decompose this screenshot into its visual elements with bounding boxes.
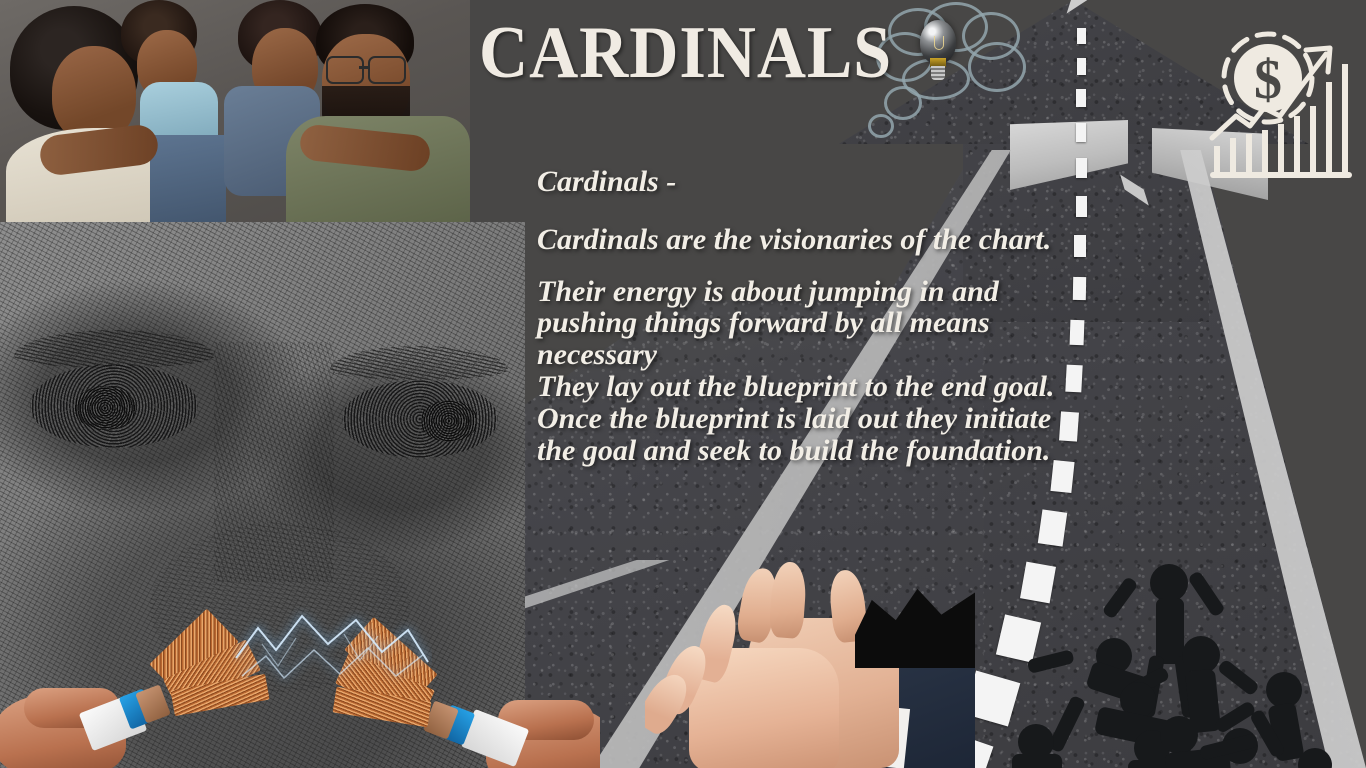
clapping-hands-photo <box>645 552 975 768</box>
body-line: They lay out the blueprint to the end go… <box>537 371 1237 403</box>
dollar-coin-growth-chart-icon: $ <box>1206 20 1356 186</box>
body-line: Their energy is about jumping in and <box>537 276 1237 308</box>
body-copy: Cardinals - Cardinals are the visionarie… <box>537 166 1237 466</box>
body-line: necessary <box>537 339 1237 371</box>
body-heading: Cardinals - <box>537 166 1237 198</box>
teamwork-silhouette-pyramid <box>1010 552 1366 768</box>
body-line: pushing things forward by all means <box>537 307 1237 339</box>
body-line: Cardinals are the visionaries of the cha… <box>537 224 1237 256</box>
svg-text:$: $ <box>1254 49 1282 111</box>
body-line: the goal and seek to build the foundatio… <box>537 435 1237 467</box>
slide-canvas: $ CARDINALS Cardinals - Cardinals are th… <box>0 0 1366 768</box>
family-portrait-photo <box>0 0 470 222</box>
sparking-copper-wires-photo <box>0 596 600 768</box>
page-title: CARDINALS <box>479 18 892 88</box>
body-line: Once the blueprint is laid out they init… <box>537 403 1237 435</box>
electric-arc-icon <box>232 604 432 724</box>
